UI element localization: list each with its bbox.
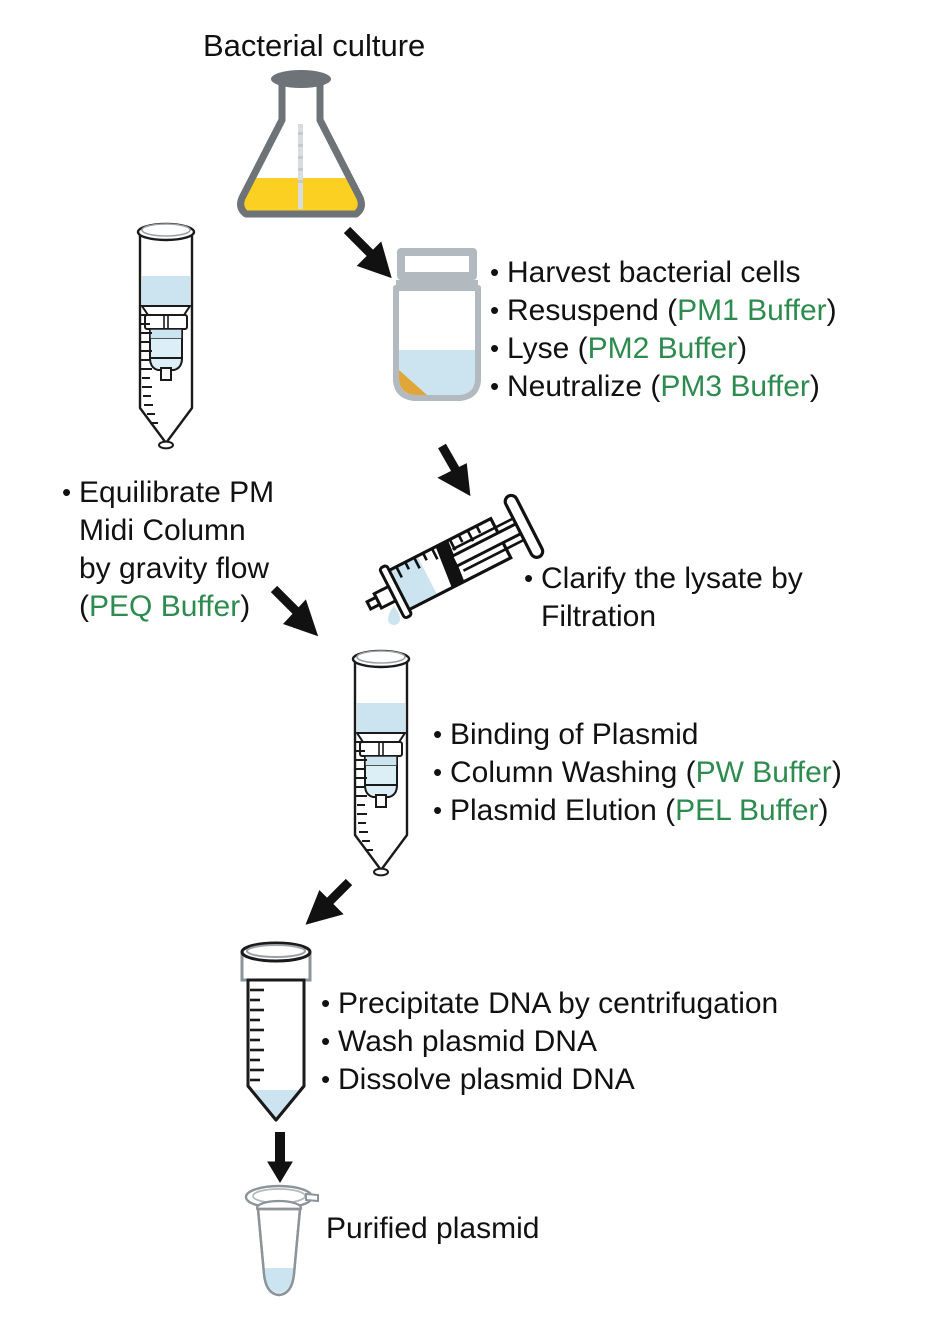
buffer-name: PM2 Buffer [588,332,738,365]
step-lysis-list: Harvest bacterial cells Resuspend (PM1 B… [490,254,837,406]
arrow-tube-to-final [262,1130,302,1188]
list-item: Resuspend (PM1 Buffer) [490,292,837,330]
list-item: Lyse (PM2 Buffer) [490,330,837,368]
list-item: Wash plasmid DNA [321,1023,778,1061]
equilibrate-buffer-line: (PEQ Buffer) [62,588,274,626]
equilibrate-line-2: Midi Column [62,512,274,550]
list-item: Binding of Plasmid [433,716,842,754]
list-item: Neutralize (PM3 Buffer) [490,368,837,406]
step-equilibrate-text: Equilibrate PM Midi Column by gravity fl… [62,474,274,626]
step-precipitate-list: Precipitate DNA by centrifugation Wash p… [321,985,778,1099]
midi-column-equilibration [128,218,208,463]
list-item: Plasmid Elution (PEL Buffer) [433,792,842,830]
centrifuge-jar [387,246,487,406]
equilibrate-line-1: Equilibrate PM [62,474,274,512]
list-item: Precipitate DNA by centrifugation [321,985,778,1023]
list-item: Column Washing (PW Buffer) [433,754,842,792]
plasmid-purification-workflow: Bacterial culture [0,0,926,1320]
midi-column-binding [343,645,423,890]
arrow-column-to-tube [303,876,363,932]
page-title: Bacterial culture [203,27,425,65]
microcentrifuge-tube [238,1182,324,1307]
buffer-name: PM1 Buffer [677,294,827,327]
clarify-line-2: Filtration [524,598,803,636]
list-item: Harvest bacterial cells [490,254,837,292]
step-binding-list: Binding of Plasmid Column Washing (PW Bu… [433,716,842,830]
buffer-name: PEQ Buffer [89,590,240,623]
clarify-line-1: Clarify the lysate by [524,560,803,598]
erlenmeyer-flask [228,62,378,227]
arrow-equilibrate-to-column [268,583,328,639]
list-item: Dissolve plasmid DNA [321,1061,778,1099]
conical-tube [228,938,324,1128]
final-label: Purified plasmid [326,1210,539,1247]
buffer-name: PW Buffer [696,756,832,789]
buffer-name: PM3 Buffer [660,370,810,403]
buffer-name: PEL Buffer [675,794,818,827]
equilibrate-line-3: by gravity flow [62,550,274,588]
step-clarify-text: Clarify the lysate by Filtration [524,560,803,636]
